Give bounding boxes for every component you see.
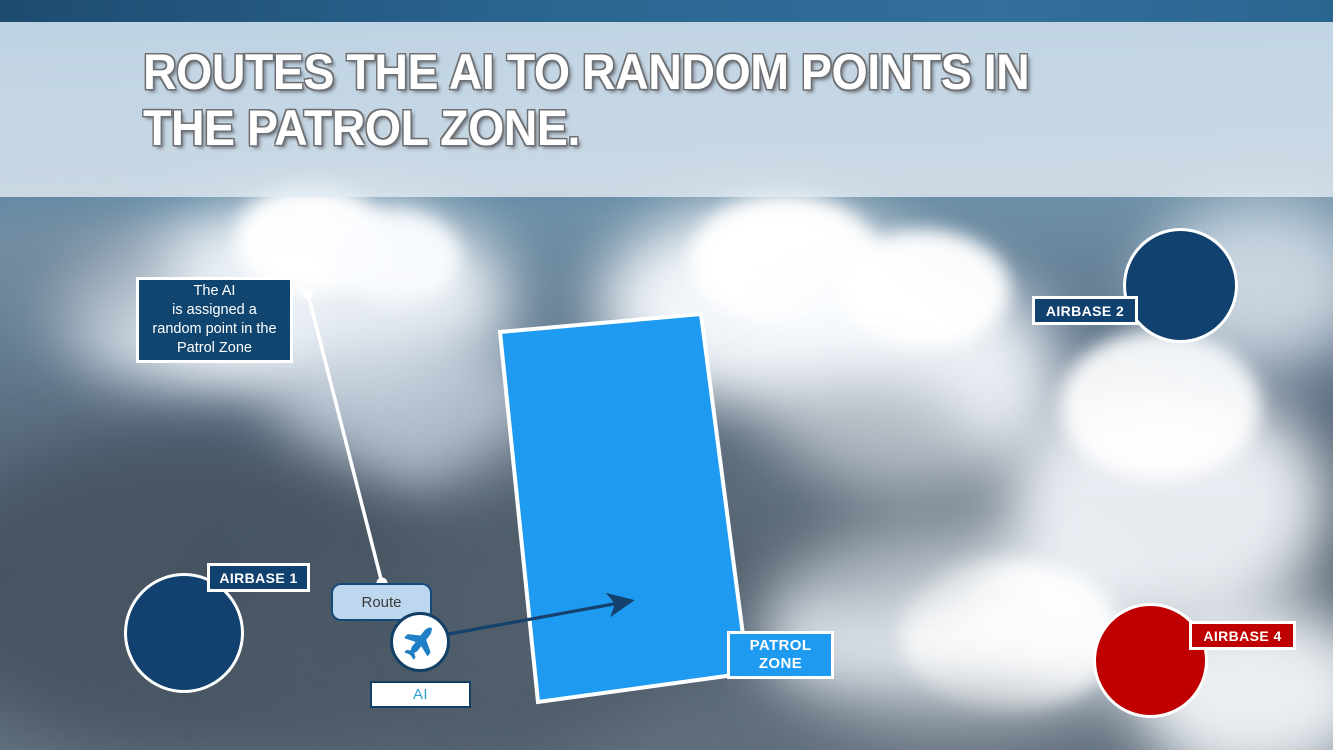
callout-line-1: The AI (194, 282, 236, 301)
airbase-2-circle[interactable] (1123, 228, 1238, 343)
callout-line-4: Patrol Zone (177, 339, 252, 358)
patrol-zone-label-line2: ZONE (759, 655, 802, 673)
callout-note-box[interactable]: The AI is assigned a random point in the… (136, 277, 293, 363)
patrol-zone-label-line1: PATROL (750, 637, 812, 655)
marker-layer: AIRBASE 1 AIRBASE 2 AIRBASE 4 PATROL ZON… (0, 0, 1333, 750)
airbase-4-label[interactable]: AIRBASE 4 (1189, 621, 1296, 650)
callout-line-3: random point in the (152, 320, 276, 339)
airbase-1-label[interactable]: AIRBASE 1 (207, 563, 310, 592)
ai-jet-marker[interactable] (390, 612, 450, 672)
patrol-zone-label[interactable]: PATROL ZONE (727, 631, 834, 679)
airbase-2-label[interactable]: AIRBASE 2 (1032, 296, 1138, 325)
fighter-jet-icon (400, 622, 440, 662)
callout-line-2: is assigned a (172, 301, 257, 320)
slide-canvas: ROUTES THE AI TO RANDOM POINTS IN THE PA… (0, 0, 1333, 750)
ai-label[interactable]: AI (370, 681, 471, 708)
